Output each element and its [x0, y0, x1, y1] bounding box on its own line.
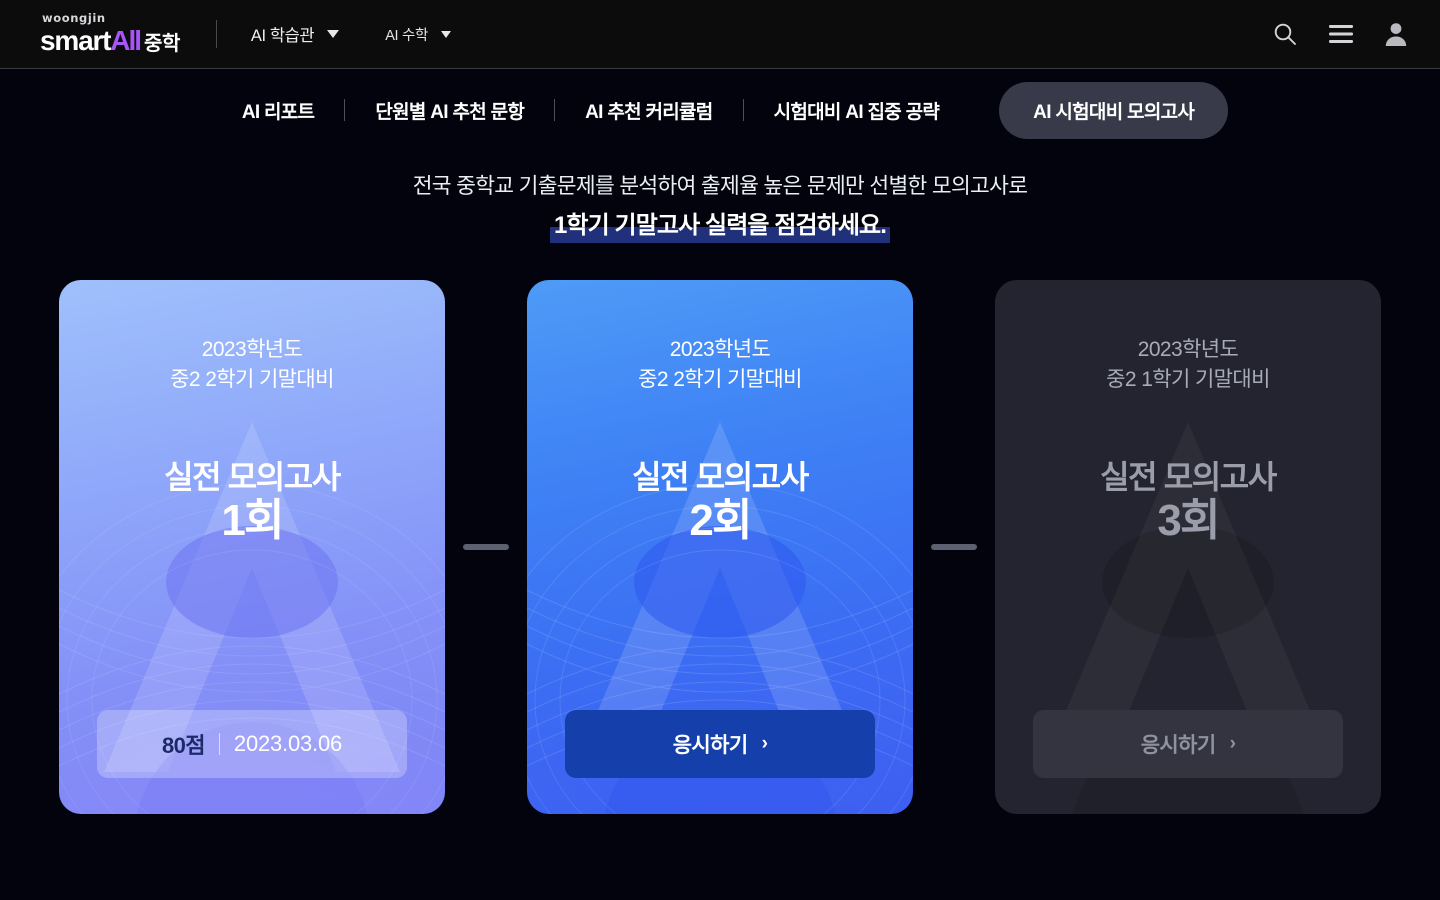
- card-3-subtitle: 2023학년도 중2 1학기 기말대비: [1106, 335, 1270, 396]
- tab-ai-curriculum[interactable]: AI 추천 커리큘럼: [555, 97, 742, 124]
- card-3-year: 2023학년도: [1106, 335, 1270, 365]
- card-2-subtitle: 2023학년도 중2 2학기 기말대비: [638, 335, 802, 396]
- search-icon[interactable]: [1272, 21, 1298, 47]
- header-actions: [1272, 21, 1408, 47]
- card-2-cta-label: 응시하기: [673, 729, 748, 759]
- dropdown-ai-math[interactable]: AI 수학: [385, 24, 451, 45]
- card-1-date: 2023.03.06: [234, 731, 342, 757]
- tab-ai-mock-exam[interactable]: AI 시험대비 모의고사: [999, 82, 1228, 139]
- dropdown-ai-hakseupgwan[interactable]: AI 학습관: [251, 22, 339, 46]
- headline-line-2: 1학기 기말고사 실력을 점검하세요.: [550, 211, 890, 243]
- header-dropdown-menus: AI 학습관 AI 수학: [251, 22, 451, 46]
- tab-exam-ai-focus[interactable]: 시험대비 AI 집중 공략: [744, 97, 970, 124]
- tab-ai-report[interactable]: AI 리포트: [212, 97, 345, 124]
- chevron-right-icon: ›: [762, 734, 768, 753]
- mock-exam-card-3: 2023학년도 중2 1학기 기말대비 실전 모의고사 3회 응시하기 ›: [995, 280, 1381, 814]
- card-connector-2-3: [931, 544, 977, 550]
- card-1-title: 실전 모의고사 1회: [164, 459, 340, 546]
- hamburger-menu-icon[interactable]: [1328, 23, 1354, 45]
- card-1-footer: 80점 2023.03.06: [97, 710, 407, 778]
- card-1-score: 80점: [162, 728, 205, 760]
- card-3-title: 실전 모의고사 3회: [1100, 459, 1276, 546]
- card-1-title-line2: 1회: [164, 496, 340, 545]
- card-1-title-line1: 실전 모의고사: [164, 459, 340, 497]
- section-tabs: AI 리포트 단원별 AI 추천 문항 AI 추천 커리큘럼 시험대비 AI 집…: [0, 69, 1440, 151]
- card-2-footer: 응시하기 ›: [565, 710, 875, 778]
- card-2-title: 실전 모의고사 2회: [632, 459, 808, 546]
- logo-woongjin-text: woongjin: [42, 13, 180, 25]
- page-headline: 전국 중학교 기출문제를 분석하여 출제율 높은 문제만 선별한 모의고사로 1…: [0, 174, 1440, 243]
- card-2-title-line1: 실전 모의고사: [632, 459, 808, 497]
- headline-line-2-wrap: 1학기 기말고사 실력을 점검하세요.: [0, 211, 1440, 243]
- score-divider: [219, 733, 220, 755]
- card-3-cta-label: 응시하기: [1141, 729, 1216, 759]
- site-header: woongjin smartAll중학 AI 학습관 AI 수학: [0, 0, 1440, 69]
- dropdown-ai-math-label: AI 수학: [385, 24, 428, 45]
- logo-all-text: All: [110, 27, 140, 55]
- chevron-down-icon: [441, 31, 451, 38]
- header-divider: [216, 20, 217, 48]
- card-connector-1-2: [463, 544, 509, 550]
- card-2-year: 2023학년도: [638, 335, 802, 365]
- headline-line-2-text: 1학기 기말고사 실력을 점검하세요.: [554, 212, 886, 239]
- logo-smartall-text: smartAll중학: [40, 27, 180, 55]
- card-3-title-line1: 실전 모의고사: [1100, 459, 1276, 497]
- card-3-title-line2: 3회: [1100, 496, 1276, 545]
- logo-smart-text: smart: [40, 27, 110, 55]
- chevron-right-icon: ›: [1230, 734, 1236, 753]
- mock-exam-card-2[interactable]: 2023학년도 중2 2학기 기말대비 실전 모의고사 2회 응시하기 ›: [527, 280, 913, 814]
- card-3-take-exam-button: 응시하기 ›: [1033, 710, 1343, 778]
- card-2-term: 중2 2학기 기말대비: [638, 365, 802, 395]
- card-1-term: 중2 2학기 기말대비: [170, 365, 334, 395]
- dropdown-ai-hakseupgwan-label: AI 학습관: [251, 22, 314, 46]
- mock-exam-card-1[interactable]: 2023학년도 중2 2학기 기말대비 실전 모의고사 1회 80점 2023.…: [59, 280, 445, 814]
- brand-logo[interactable]: woongjin smartAll중학: [40, 13, 180, 56]
- chevron-down-icon: [327, 30, 339, 38]
- card-1-subtitle: 2023학년도 중2 2학기 기말대비: [170, 335, 334, 396]
- card-1-year: 2023학년도: [170, 335, 334, 365]
- tab-unit-ai-questions[interactable]: 단원별 AI 추천 문항: [345, 97, 554, 124]
- logo-suffix-text: 중학: [144, 34, 180, 54]
- headline-line-1: 전국 중학교 기출문제를 분석하여 출제율 높은 문제만 선별한 모의고사로: [0, 174, 1440, 200]
- card-2-take-exam-button[interactable]: 응시하기 ›: [565, 710, 875, 778]
- user-account-icon[interactable]: [1384, 21, 1408, 47]
- card-2-title-line2: 2회: [632, 496, 808, 545]
- card-1-result-pill[interactable]: 80점 2023.03.06: [97, 710, 407, 778]
- card-3-footer: 응시하기 ›: [1033, 710, 1343, 778]
- card-3-term: 중2 1학기 기말대비: [1106, 365, 1270, 395]
- mock-exam-card-list: 2023학년도 중2 2학기 기말대비 실전 모의고사 1회 80점 2023.…: [0, 280, 1440, 814]
